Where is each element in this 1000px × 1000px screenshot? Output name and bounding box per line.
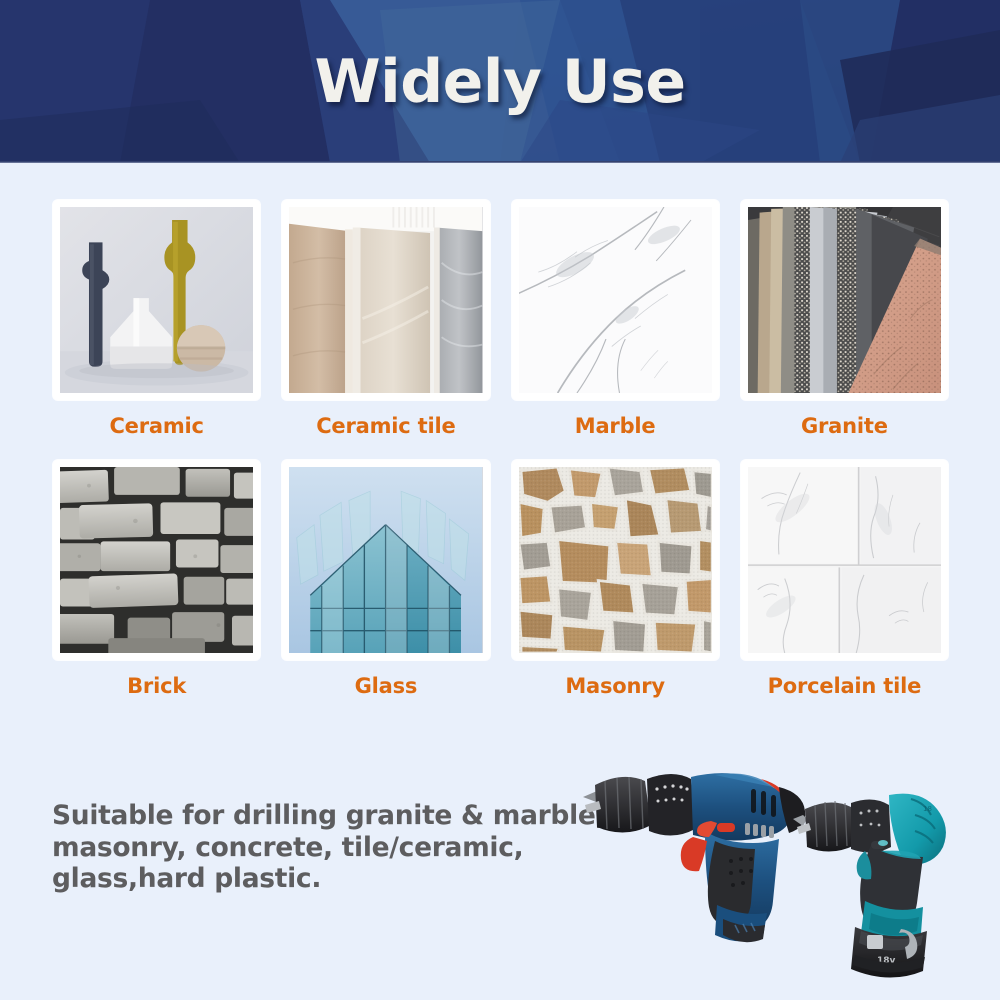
usage-line-3: glass,hard plastic.	[52, 863, 612, 895]
grid-item-granite[interactable]: Granite	[741, 200, 948, 460]
grid-item-label: Masonry	[565, 674, 665, 698]
grid-item-ceramic-tile[interactable]: Ceramic tile	[282, 200, 489, 460]
blue-black-cordless-drill	[583, 773, 805, 942]
cordless-drills-photo: 18 18v	[565, 745, 1000, 980]
svg-text:18: 18	[923, 805, 932, 813]
thumbnail-card	[53, 460, 260, 660]
grid-item-masonry[interactable]: Masonry	[512, 460, 719, 698]
glass-building-facade-photo	[289, 467, 482, 653]
grid-item-ceramic[interactable]: Ceramic	[53, 200, 260, 460]
usage-line-1: Suitable for drilling granite & marble,	[52, 800, 612, 832]
thumbnail-card	[53, 200, 260, 400]
grid-item-label: Glass	[355, 674, 418, 698]
grid-item-label: Ceramic	[109, 414, 203, 438]
gray-brick-wall-photo	[60, 467, 253, 653]
granite-slab-stack-photo	[748, 207, 941, 393]
usage-description: Suitable for drilling granite & marble, …	[52, 800, 612, 895]
grid-item-marble[interactable]: Marble	[512, 200, 719, 460]
stone-masonry-wall-photo	[519, 467, 712, 653]
thumbnail-card	[741, 200, 948, 400]
grid-item-label: Brick	[127, 674, 186, 698]
white-marble-veining-photo	[519, 207, 712, 393]
thumbnail-card	[282, 460, 489, 660]
header-divider	[0, 161, 1000, 163]
grid-item-label: Ceramic tile	[316, 414, 455, 438]
usage-line-2: masonry, concrete, tile/ceramic,	[52, 832, 612, 864]
grid-item-label: Porcelain tile	[768, 674, 922, 698]
grid-item-glass[interactable]: Glass	[282, 460, 489, 698]
teal-cordless-drill: 18 18v	[793, 794, 946, 978]
header-banner: Widely Use	[0, 0, 1000, 163]
thumbnail-card	[741, 460, 948, 660]
ceramic-vases-photo	[60, 207, 253, 393]
thumbnail-card	[512, 460, 719, 660]
ceramic-tile-slabs-photo	[289, 207, 482, 393]
page-title: Widely Use	[0, 0, 1000, 163]
infographic-page: Widely Use	[0, 0, 1000, 1000]
grid-item-porcelain-tile[interactable]: Porcelain tile	[741, 460, 948, 698]
material-grid: Ceramic	[53, 200, 948, 698]
thumbnail-card	[282, 200, 489, 400]
grid-item-label: Marble	[575, 414, 656, 438]
grid-item-brick[interactable]: Brick	[53, 460, 260, 698]
grid-item-label: Granite	[801, 414, 888, 438]
porcelain-tile-floor-photo	[748, 467, 941, 653]
thumbnail-card	[512, 200, 719, 400]
